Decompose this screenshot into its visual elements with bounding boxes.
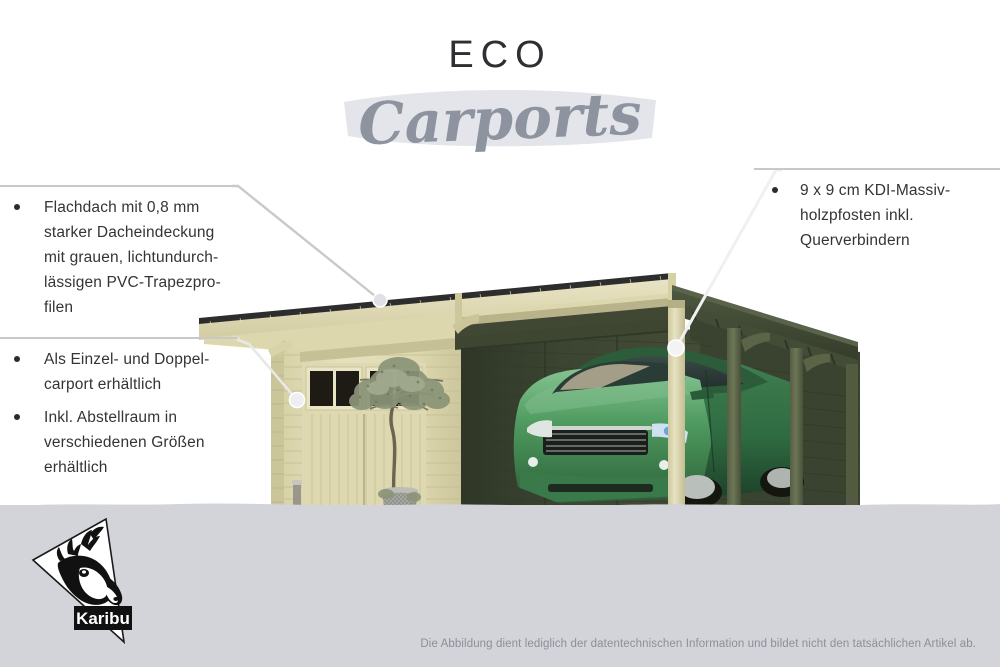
leader-dot-roof bbox=[373, 293, 387, 307]
bullet-item: Inkl. Abstellraum inverschiedenen Größen… bbox=[14, 405, 250, 480]
logo-wordmark: Karibu bbox=[76, 609, 130, 628]
callout-rule bbox=[754, 168, 1000, 170]
bullet-dot-icon bbox=[14, 356, 20, 362]
script-title-banner: Carports bbox=[340, 86, 660, 152]
post-dark-3 bbox=[846, 364, 858, 516]
storage-room bbox=[271, 345, 461, 513]
bullet-dot-icon bbox=[772, 187, 778, 193]
bullet-item: Als Einzel- und Doppel-carport erhältlic… bbox=[14, 347, 250, 397]
callout-rule bbox=[0, 185, 238, 187]
carport-roof-dark bbox=[672, 285, 858, 392]
karibu-logo: Karibu bbox=[28, 516, 152, 648]
leader-roof bbox=[232, 186, 380, 300]
bullet-dot-icon bbox=[14, 414, 20, 420]
shed-door bbox=[302, 363, 426, 509]
roof-rafters bbox=[693, 312, 838, 374]
disclaimer-text: Die Abbildung dient lediglich der datent… bbox=[0, 638, 976, 650]
carport-posts bbox=[668, 300, 858, 526]
callout-roof: Flachdach mit 0,8 mmstarker Dacheindecku… bbox=[0, 185, 250, 320]
bullet-label: 9 x 9 cm KDI-Massiv-holzpfosten inkl.Que… bbox=[800, 178, 950, 253]
green-suv bbox=[514, 347, 804, 508]
bullet-item: Flachdach mit 0,8 mmstarker Dacheindecku… bbox=[14, 195, 250, 320]
callout-posts: 9 x 9 cm KDI-Massiv-holzpfosten inkl.Que… bbox=[752, 168, 1000, 253]
ground-edge bbox=[0, 497, 1000, 511]
callout-rule bbox=[0, 337, 238, 339]
bullet-label: Inkl. Abstellraum inverschiedenen Größen… bbox=[44, 405, 205, 480]
post-front-light bbox=[668, 300, 685, 522]
bullet-dot-icon bbox=[14, 204, 20, 210]
leader-dot-posts bbox=[668, 340, 684, 356]
bullet-label: Flachdach mit 0,8 mmstarker Dacheindecku… bbox=[44, 195, 221, 320]
product-info-image: ECO Carports bbox=[0, 0, 1000, 667]
carport-right-rear-wall bbox=[700, 330, 860, 512]
carport-rear-wall bbox=[455, 320, 700, 512]
callout-types: Als Einzel- und Doppel-carport erhältlic… bbox=[0, 337, 250, 480]
deer-eye-icon bbox=[79, 569, 89, 577]
flat-roof-light bbox=[199, 273, 676, 362]
bullet-item: 9 x 9 cm KDI-Massiv-holzpfosten inkl.Que… bbox=[772, 178, 1000, 253]
leader-dot-types bbox=[290, 393, 305, 408]
page-title: ECO bbox=[0, 34, 1000, 77]
bullet-label: Als Einzel- und Doppel-carport erhältlic… bbox=[44, 347, 209, 397]
script-title: Carports bbox=[339, 80, 661, 158]
